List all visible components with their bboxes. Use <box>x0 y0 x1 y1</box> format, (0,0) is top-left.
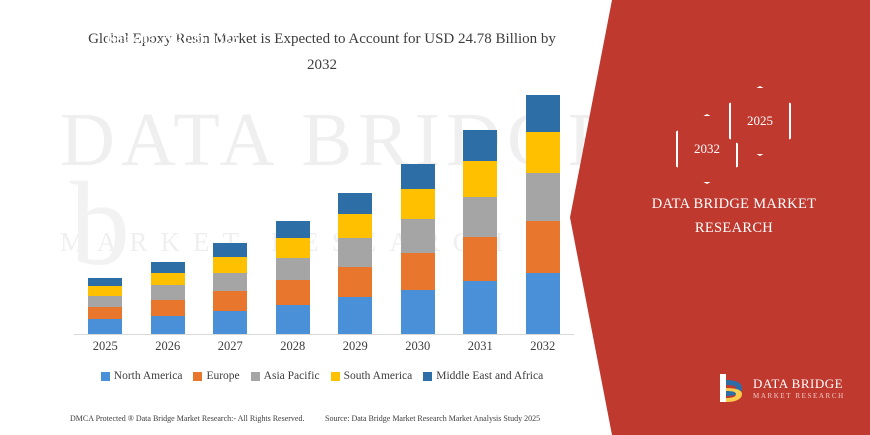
bar-segment[interactable] <box>526 221 560 273</box>
bar-group[interactable] <box>88 278 122 334</box>
bar-segment[interactable] <box>213 291 247 311</box>
bar-group[interactable] <box>213 243 247 334</box>
bar-segment[interactable] <box>88 296 122 307</box>
bar-segment[interactable] <box>151 316 185 334</box>
legend-item[interactable]: Europe <box>193 370 239 382</box>
x-axis-tick-label: 2026 <box>151 339 185 359</box>
logo-name: DATA BRIDGE <box>753 377 845 390</box>
bar-segment[interactable] <box>338 214 372 239</box>
bar-segment[interactable] <box>276 258 310 280</box>
bar-segment[interactable] <box>151 285 185 300</box>
footer-copyright: DMCA Protected ® Data Bridge Market Rese… <box>70 414 304 423</box>
hexagon-badge-2025: 2025 <box>729 86 791 156</box>
bar-segment[interactable] <box>88 278 122 287</box>
bar-segment[interactable] <box>401 164 435 190</box>
legend-item[interactable]: Asia Pacific <box>251 370 320 382</box>
data-bridge-logo-icon <box>716 372 746 404</box>
legend-label: Middle East and Africa <box>436 370 543 382</box>
bar-segment[interactable] <box>463 281 497 334</box>
legend-label: North America <box>114 370 183 382</box>
data-bridge-logo: DATA BRIDGE MARKET RESEARCH <box>716 372 845 404</box>
bar-group[interactable] <box>463 130 497 334</box>
bar-segment[interactable] <box>463 130 497 161</box>
legend-label: Asia Pacific <box>264 370 320 382</box>
bar-segment[interactable] <box>276 280 310 305</box>
bar-segment[interactable] <box>213 243 247 256</box>
bar-segment[interactable] <box>276 238 310 258</box>
bar-segment[interactable] <box>463 237 497 281</box>
hexagon-2025-label: 2025 <box>747 113 773 129</box>
bar-segment[interactable] <box>526 95 560 132</box>
x-axis-tick-label: 2032 <box>526 339 560 359</box>
bar-segment[interactable] <box>463 161 497 197</box>
legend-swatch-icon <box>251 372 260 381</box>
bar-segment[interactable] <box>151 273 185 285</box>
bar-segment[interactable] <box>88 286 122 296</box>
x-axis-tick-label: 2028 <box>276 339 310 359</box>
legend-swatch-icon <box>331 372 340 381</box>
legend-item[interactable]: South America <box>331 370 413 382</box>
legend-swatch-icon <box>193 372 202 381</box>
bar-segment[interactable] <box>401 219 435 253</box>
bar-segment[interactable] <box>338 297 372 334</box>
bar-group[interactable] <box>401 164 435 334</box>
bar-group[interactable] <box>526 95 560 334</box>
slide-root: b DATA BRIDGE MARKET RESEARCH Global Epo… <box>0 0 870 435</box>
x-axis-tick-label: 2031 <box>463 339 497 359</box>
x-axis-line <box>74 334 574 335</box>
bar-segment[interactable] <box>213 311 247 334</box>
bar-group[interactable] <box>151 262 185 334</box>
legend-label: Europe <box>206 370 239 382</box>
bar-segment[interactable] <box>338 193 372 214</box>
logo-tagline: MARKET RESEARCH <box>753 393 845 400</box>
stacked-bar-series <box>74 90 574 334</box>
bar-segment[interactable] <box>276 221 310 238</box>
bar-segment[interactable] <box>276 305 310 334</box>
right-panel-brand: DATA BRIDGE MARKET RESEARCH <box>616 192 852 240</box>
bar-segment[interactable] <box>463 197 497 237</box>
bar-segment[interactable] <box>88 307 122 319</box>
bar-segment[interactable] <box>338 267 372 298</box>
x-axis-tick-label: 2025 <box>88 339 122 359</box>
data-bridge-logo-text: DATA BRIDGE MARKET RESEARCH <box>753 377 845 400</box>
legend-label: South America <box>344 370 413 382</box>
bar-segment[interactable] <box>151 300 185 316</box>
bar-segment[interactable] <box>213 257 247 273</box>
bar-group[interactable] <box>276 221 310 334</box>
bar-segment[interactable] <box>526 132 560 174</box>
legend-item[interactable]: North America <box>101 370 183 382</box>
right-panel-title: Global Epoxy Resin Market, By Regions, 2… <box>54 6 290 50</box>
legend-swatch-icon <box>423 372 432 381</box>
bar-segment[interactable] <box>401 290 435 334</box>
legend-item[interactable]: Middle East and Africa <box>423 370 543 382</box>
x-axis-tick-label: 2029 <box>338 339 372 359</box>
bar-segment[interactable] <box>151 262 185 273</box>
x-axis-tick-label: 2030 <box>401 339 435 359</box>
bar-group[interactable] <box>338 193 372 334</box>
footer-source: Source: Data Bridge Market Research Mark… <box>325 414 540 423</box>
bar-segment[interactable] <box>526 273 560 334</box>
bar-segment[interactable] <box>401 253 435 290</box>
bar-segment[interactable] <box>213 273 247 291</box>
x-axis-tick-labels: 20252026202720282029203020312032 <box>74 339 574 359</box>
chart-plot-area <box>74 90 574 335</box>
bar-segment[interactable] <box>401 189 435 218</box>
legend-swatch-icon <box>101 372 110 381</box>
x-axis-tick-label: 2027 <box>213 339 247 359</box>
bar-segment[interactable] <box>88 319 122 334</box>
bar-segment[interactable] <box>338 238 372 266</box>
bar-segment[interactable] <box>526 173 560 221</box>
hexagon-2032-label: 2032 <box>694 141 720 157</box>
chart-legend: North AmericaEuropeAsia PacificSouth Ame… <box>62 370 582 382</box>
